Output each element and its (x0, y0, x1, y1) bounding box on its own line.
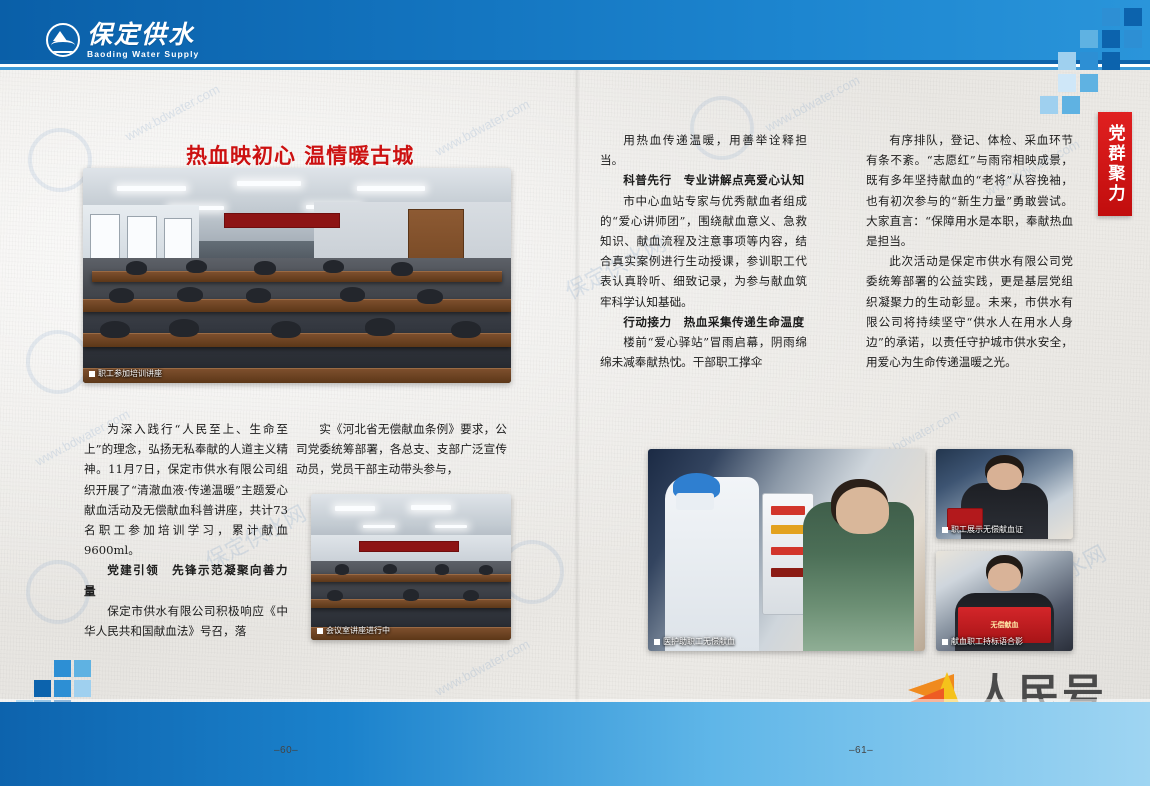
body-paragraph: 楼前“爱心驿站”冒雨启幕，阴雨绵绵未减奉献热忱。干部职工撑伞 (600, 332, 807, 372)
text-column-2: 实《河北省无偿献血条例》要求，公司党委统筹部署，各总支、支部广泛宣传动员，党员干… (296, 419, 507, 480)
logo-title-en: Baoding Water Supply (87, 50, 199, 59)
caption-text: 会议室讲座进行中 (326, 625, 390, 636)
logo-text-block: 保定供水 Baoding Water Supply (87, 22, 199, 59)
photo-caption: 职工展示无偿献血证 (942, 524, 1023, 535)
subheading: 行动接力 热血采集传递生命温度 (600, 312, 807, 332)
page-title: 热血映初心 温情暖古城 (186, 140, 414, 170)
header-rule-secondary (0, 67, 1150, 70)
page-spine (574, 70, 580, 702)
photo-person-head (987, 463, 1023, 490)
caption-bullet-icon (942, 639, 948, 645)
text-column-3: 用热血传递温暖，用善举诠释担当。科普先行 专业讲解点亮爱心认知市中心血站专家与优… (600, 130, 807, 372)
body-paragraph: 实《河北省无偿献血条例》要求，公司党委统筹部署，各总支、支部广泛宣传动员，党员干… (296, 419, 507, 480)
section-tab-label: 党群聚力 (1103, 124, 1128, 204)
photo-caption: 献血职工持标语合影 (942, 636, 1023, 647)
caption-bullet-icon (942, 527, 948, 533)
caption-text: 献血职工持标语合影 (951, 636, 1023, 647)
body-paragraph: 保定市供水有限公司积极响应《中华人民共和国献血法》号召，落 (84, 601, 288, 641)
magazine-spread: www.bdwater.com www.bdwater.com www.bdwa… (0, 0, 1150, 786)
photo-lecture-hall: 职工参加培训讲座 (83, 168, 511, 383)
body-paragraph: 市中心血站专家与优秀献血者组成的“爱心讲师团”，围绕献血意义、急救知识、献血流程… (600, 191, 807, 312)
photo-donation-certificate: 职工展示无偿献血证 (936, 449, 1073, 539)
logo-title-cn: 保定供水 (87, 22, 199, 47)
body-paragraph: 有序排队，登记、体检、采血环节有条不紊。“志愿红”与雨帘相映成景，既有多年坚持献… (866, 130, 1073, 251)
caption-text: 职工展示无偿献血证 (951, 524, 1023, 535)
photo-blood-donation: 医护助职工无偿献血 (648, 449, 925, 651)
photo-caption: 会议室讲座进行中 (317, 625, 390, 636)
photo-group-with-banner: 无偿献血 献血职工持标语合影 (936, 551, 1073, 651)
photo-donor-head (836, 487, 889, 533)
photo-slogan-line1: 无偿献血 (990, 621, 1018, 630)
subheading: 党建引领 先锋示范凝聚向善力量 (84, 560, 288, 600)
page-number-right: –61– (849, 745, 873, 756)
section-tab-dangqunjuli[interactable]: 党群聚力 (1098, 112, 1132, 216)
company-logo: 保定供水 Baoding Water Supply (46, 22, 199, 59)
subheading: 科普先行 专业讲解点亮爱心认知 (600, 170, 807, 190)
body-paragraph: 此次活动是保定市供水有限公司党委统筹部署的公益实践，更是基层党组织凝聚力的生动彰… (866, 251, 1073, 372)
photo-caption: 职工参加培训讲座 (89, 368, 162, 379)
photo-person-head (988, 563, 1021, 591)
page-number-left: –60– (274, 745, 298, 756)
footer-band (0, 702, 1150, 786)
photo-red-banner (359, 541, 459, 553)
caption-text: 医护助职工无偿献血 (663, 636, 735, 647)
caption-text: 职工参加培训讲座 (98, 368, 162, 379)
photo-nurse-mask (676, 493, 715, 509)
photo-caption: 医护助职工无偿献血 (654, 636, 735, 647)
water-drop-mountain-logo-icon (46, 23, 80, 57)
text-column-1: 为深入践行“人民至上、生命至上”的理念，弘扬无私奉献的人道主义精神。11月7日，… (84, 419, 288, 641)
body-paragraph: 用热血传递温暖，用善举诠释担当。 (600, 130, 807, 170)
caption-bullet-icon (654, 639, 660, 645)
text-column-4: 有序排队，登记、体检、采血环节有条不紊。“志愿红”与雨帘相映成景，既有多年坚持献… (866, 130, 1073, 372)
caption-bullet-icon (89, 371, 95, 377)
body-paragraph: 为深入践行“人民至上、生命至上”的理念，弘扬无私奉献的人道主义精神。11月7日，… (84, 419, 288, 560)
photo-meeting-room: 会议室讲座进行中 (311, 494, 511, 640)
photo-red-banner (224, 213, 340, 228)
caption-bullet-icon (317, 628, 323, 634)
photo-seating-area (83, 258, 511, 383)
